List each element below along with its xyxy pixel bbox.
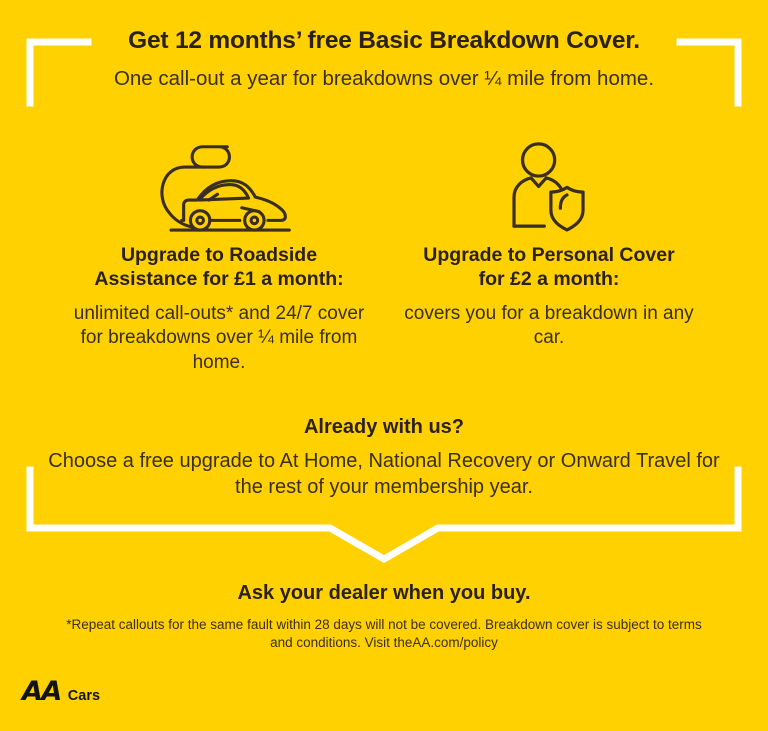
footer-section: Ask your dealer when you buy. *Repeat ca… (0, 582, 768, 652)
breakdown-cover-promo-card: Get 12 months’ free Basic Breakdown Cove… (0, 0, 768, 731)
page-subtitle: One call-out a year for breakdowns over … (0, 67, 768, 91)
disclaimer-text: *Repeat callouts for the same fault with… (54, 616, 714, 652)
already-with-us-section: Already with us? Choose a free upgrade t… (0, 416, 768, 500)
feature-title-personal: Upgrade to Personal Cover for £2 a month… (419, 244, 679, 292)
page-title: Get 12 months’ free Basic Breakdown Cove… (0, 28, 768, 55)
aa-logo-wordmark: Cars (68, 689, 100, 704)
aa-logo-mark: AA (22, 678, 61, 705)
feature-column-personal: Upgrade to Personal Cover for £2 a month… (384, 133, 714, 351)
feature-title-roadside: Upgrade to Roadside Assistance for £1 a … (89, 244, 349, 292)
feature-body-personal: covers you for a breakdown in any car. (401, 302, 697, 351)
person-shield-icon (392, 133, 706, 238)
feature-column-roadside: Upgrade to Roadside Assistance for £1 a … (54, 133, 384, 376)
already-with-us-body: Choose a free upgrade to At Home, Nation… (44, 449, 724, 500)
feature-columns: Upgrade to Roadside Assistance for £1 a … (0, 133, 768, 376)
feature-body-roadside: unlimited call-outs* and 24/7 cover for … (71, 302, 367, 376)
call-to-action-title: Ask your dealer when you buy. (0, 582, 768, 605)
already-with-us-title: Already with us? (0, 416, 768, 439)
header: Get 12 months’ free Basic Breakdown Cove… (0, 28, 768, 91)
aa-cars-logo: AA Cars (22, 678, 100, 705)
car-winding-road-icon (62, 133, 376, 238)
